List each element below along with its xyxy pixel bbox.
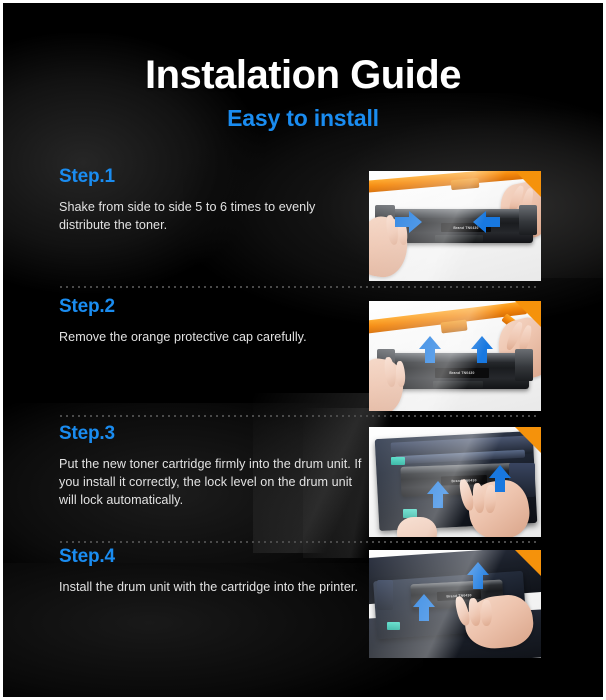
cartridge-end-cap xyxy=(515,349,533,381)
step-2-text: Step.2 Remove the orange protective cap … xyxy=(59,296,359,347)
step-4-description: Install the drum unit with the cartridge… xyxy=(59,579,359,597)
orange-corner-accent xyxy=(515,301,541,327)
hand xyxy=(397,517,437,537)
step-1-description: Shake from side to side 5 to 6 times to … xyxy=(59,199,359,235)
step-2-description: Remove the orange protective cap careful… xyxy=(59,329,359,347)
cartridge-label: Brand TN0430 xyxy=(435,368,489,378)
cartridge-label-text: Brand TN0430 xyxy=(449,371,474,375)
step-2-label: Step.2 xyxy=(59,296,359,318)
installation-guide-poster: Instalation Guide Easy to install Step.1… xyxy=(3,3,603,697)
step-3-image: Brand TN0430 xyxy=(369,427,541,537)
poster-header: Instalation Guide Easy to install xyxy=(3,3,603,132)
page-title: Instalation Guide xyxy=(3,54,603,96)
step-2-image: Brand TN0430 xyxy=(369,301,541,411)
step-4-label: Step.4 xyxy=(59,546,359,568)
divider-2 xyxy=(60,415,538,417)
orange-corner-accent xyxy=(515,171,541,197)
lock-lever xyxy=(387,622,400,630)
step-4-image: Brand TN0430 xyxy=(369,550,541,658)
orange-corner-accent xyxy=(515,427,541,453)
divider-1 xyxy=(60,286,538,288)
step-3-text: Step.3 Put the new toner cartridge firml… xyxy=(59,423,367,510)
orange-corner-accent xyxy=(515,550,541,576)
finger xyxy=(481,600,492,626)
toner-cartridge: Brand TN0430 xyxy=(385,353,529,389)
lock-lever xyxy=(391,457,405,465)
step-3-description: Put the new toner cartridge firmly into … xyxy=(59,456,367,510)
divider-3 xyxy=(60,541,538,543)
step-1-label: Step.1 xyxy=(59,166,359,188)
step-4-text: Step.4 Install the drum unit with the ca… xyxy=(59,546,359,597)
step-3-label: Step.3 xyxy=(59,423,367,445)
step-1-text: Step.1 Shake from side to side 5 to 6 ti… xyxy=(59,166,359,235)
cartridge-end-cap xyxy=(519,205,537,235)
page-subtitle: Easy to install xyxy=(3,105,603,132)
step-1-image: Brand TN0430 xyxy=(369,171,541,281)
